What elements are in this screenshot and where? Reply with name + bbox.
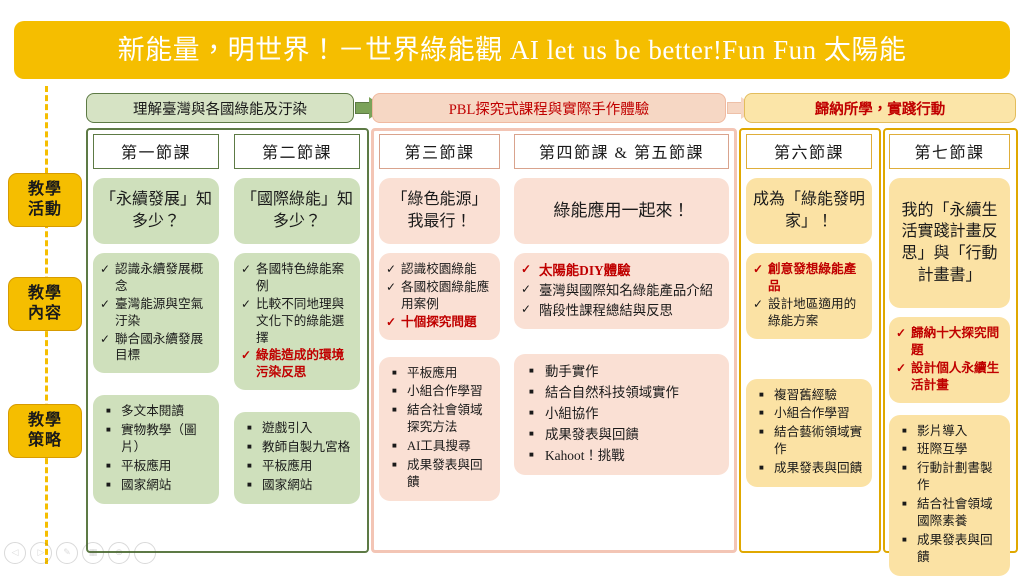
lesson-header-6: 第六節課 xyxy=(746,134,872,169)
content-item-label: 認識永續發展概念 xyxy=(115,262,203,293)
check-icon: ✓ xyxy=(521,281,531,298)
strategy-item: ■多文本閱讀 xyxy=(106,403,212,420)
strategy-item-label: 平板應用 xyxy=(407,366,457,380)
lesson-column-4-5: 第四節課 & 第五節課 綠能應用一起來！ ✓太陽能DIY體驗✓臺灣與國際知名綠能… xyxy=(514,134,729,475)
strategy-item: ■平板應用 xyxy=(247,458,353,475)
strategy-item-label: 行動計劃書製作 xyxy=(917,461,993,492)
strategy-list-6: ■複習舊經驗■小組合作學習■結合藝術領域實作■成果發表與回饋 xyxy=(753,387,865,477)
square-bullet-icon: ■ xyxy=(902,499,907,510)
content-item: ✓認識校園綠能 xyxy=(386,261,493,278)
content-card-4-5: ✓太陽能DIY體驗✓臺灣與國際知名綠能產品介紹✓階段性課程總結與反思 xyxy=(514,253,729,329)
square-bullet-icon: ■ xyxy=(529,449,534,460)
content-list-3: ✓認識校園綠能✓各國校園綠能應用案例✓十個探究問題 xyxy=(386,261,493,331)
strategy-item-label: 平板應用 xyxy=(262,459,312,473)
content-item-label: 臺灣與國際知名綠能產品介紹 xyxy=(539,283,713,298)
row-label-line-1: 教學 xyxy=(9,180,81,200)
page-title: 新能量，明世界！－世界綠能觀 AI let us be better!Fun F… xyxy=(118,37,907,64)
strategy-item: ■小組合作學習 xyxy=(759,405,865,422)
check-icon: ✓ xyxy=(100,331,110,347)
check-icon: ✓ xyxy=(521,301,531,318)
content-item: ✓綠能造成的環境污染反思 xyxy=(241,347,353,381)
content-item: ✓各國校園綠能應用案例 xyxy=(386,279,493,313)
strategy-card-6: ■複習舊經驗■小組合作學習■結合藝術領域實作■成果發表與回饋 xyxy=(746,379,872,487)
strategy-list-3: ■平板應用■小組合作學習■結合社會領域探究方法■AI工具搜尋■成果發表與回饋 xyxy=(386,365,493,491)
check-icon: ✓ xyxy=(100,296,110,312)
content-item-label: 創意發想綠能產品 xyxy=(768,262,856,293)
square-bullet-icon: ■ xyxy=(529,407,534,418)
strategy-item: ■Kahoot！挑戰 xyxy=(527,446,722,465)
strategy-item: ■結合社會領域國際素養 xyxy=(902,496,1003,530)
content-list-6: ✓創意發想綠能產品✓設計地區適用的綠能方案 xyxy=(753,261,865,330)
strategy-item-label: 國家網站 xyxy=(262,478,312,492)
strategy-item-label: 班際互學 xyxy=(917,442,967,456)
activity-card-1: 「永續發展」知多少？ xyxy=(93,178,219,244)
square-bullet-icon: ■ xyxy=(902,444,907,455)
strategy-item: ■小組合作學習 xyxy=(392,383,493,400)
strategy-item: ■班際互學 xyxy=(902,441,1003,458)
square-bullet-icon: ■ xyxy=(392,368,397,379)
strategy-item-label: 結合社會領域探究方法 xyxy=(407,403,483,434)
activity-card-2: 「國際綠能」知多少？ xyxy=(234,178,360,244)
strategy-item-label: 小組合作學習 xyxy=(774,406,850,420)
content-item-label: 設計地區適用的綠能方案 xyxy=(768,297,856,328)
strategy-item: ■影片導入 xyxy=(902,423,1003,440)
lesson-header-1: 第一節課 xyxy=(93,134,219,169)
square-bullet-icon: ■ xyxy=(759,463,764,474)
strategy-item: ■實物教學（圖片） xyxy=(106,422,212,456)
lesson-header-7: 第七節課 xyxy=(889,134,1010,169)
square-bullet-icon: ■ xyxy=(392,386,397,397)
lesson-column-2: 第二節課 「國際綠能」知多少？ ✓各國特色綠能案例✓比較不同地理與文化下的綠能選… xyxy=(234,134,360,504)
strategy-item-label: 實物教學（圖片） xyxy=(121,423,197,454)
content-item-label: 綠能造成的環境污染反思 xyxy=(256,348,344,379)
strategy-item: ■結合社會領域探究方法 xyxy=(392,402,493,436)
phase-band-action: 歸納所學，實踐行動 xyxy=(744,93,1016,123)
page-title-banner: 新能量，明世界！－世界綠能觀 AI let us be better!Fun F… xyxy=(14,21,1010,79)
strategy-item: ■國家網站 xyxy=(106,477,212,494)
square-bullet-icon: ■ xyxy=(247,480,252,491)
square-bullet-icon: ■ xyxy=(759,427,764,438)
activity-card-7: 我的「永續生活實踐計畫反思」與「行動計畫書」 xyxy=(889,178,1010,308)
check-icon: ✓ xyxy=(241,347,251,363)
strategy-item-label: 成果發表與回饋 xyxy=(774,461,862,475)
check-icon: ✓ xyxy=(100,261,110,277)
content-item-label: 階段性課程總結與反思 xyxy=(539,303,673,318)
check-icon: ✓ xyxy=(896,360,906,376)
strategy-item: ■國家網站 xyxy=(247,477,353,494)
square-bullet-icon: ■ xyxy=(392,441,397,452)
square-bullet-icon: ■ xyxy=(529,386,534,397)
square-bullet-icon: ■ xyxy=(392,460,397,471)
check-icon: ✓ xyxy=(521,261,531,278)
content-list-7: ✓歸納十大探究問題✓設計個人永續生活計畫 xyxy=(896,325,1003,394)
strategy-item-label: 成果發表與回饋 xyxy=(545,427,639,442)
previous-slide-icon[interactable]: ◁ xyxy=(4,542,26,564)
content-item: ✓歸納十大探究問題 xyxy=(896,325,1003,359)
row-label-line-1: 教學 xyxy=(9,411,81,431)
slideshow-player-bar[interactable]: ◁ ▷ ✎ ▦ ⊕ ⋯ xyxy=(4,542,156,564)
content-item: ✓認識永續發展概念 xyxy=(100,261,212,295)
lesson-header-4-5: 第四節課 & 第五節課 xyxy=(514,134,729,169)
strategy-item: ■成果發表與回饋 xyxy=(902,532,1003,566)
square-bullet-icon: ■ xyxy=(247,461,252,472)
strategy-item-label: 影片導入 xyxy=(917,424,967,438)
content-list-2: ✓各國特色綠能案例✓比較不同地理與文化下的綠能選擇✓綠能造成的環境污染反思 xyxy=(241,261,353,381)
strategy-card-2: ■遊戲引入■教師自製九宮格■平板應用■國家網站 xyxy=(234,412,360,504)
strategy-item-label: 成果發表與回饋 xyxy=(917,533,993,564)
strategy-item-label: 平板應用 xyxy=(121,459,171,473)
content-item: ✓設計個人永續生活計畫 xyxy=(896,360,1003,394)
square-bullet-icon: ■ xyxy=(106,425,111,436)
content-list-4-5: ✓太陽能DIY體驗✓臺灣與國際知名綠能產品介紹✓階段性課程總結與反思 xyxy=(521,261,722,320)
content-item: ✓太陽能DIY體驗 xyxy=(521,261,722,280)
square-bullet-icon: ■ xyxy=(902,463,907,474)
strategy-item: ■平板應用 xyxy=(392,365,493,382)
lesson-column-1: 第一節課 「永續發展」知多少？ ✓認識永續發展概念✓臺灣能源與空氣汙染✓聯合國永… xyxy=(93,134,219,504)
content-card-1: ✓認識永續發展概念✓臺灣能源與空氣汙染✓聯合國永續發展目標 xyxy=(93,253,219,373)
strategy-item-label: 小組合作學習 xyxy=(407,384,483,398)
strategy-item-label: 結合藝術領域實作 xyxy=(774,425,862,456)
row-label-teaching-strategy: 教學 策略 xyxy=(8,404,82,458)
zoom-icon[interactable]: ⊕ xyxy=(108,542,130,564)
content-item: ✓階段性課程總結與反思 xyxy=(521,301,722,320)
content-item-label: 臺灣能源與空氣汙染 xyxy=(115,297,203,328)
content-item-label: 認識校園綠能 xyxy=(401,262,477,276)
row-label-line-1: 教學 xyxy=(9,284,81,304)
strategy-item: ■成果發表與回饋 xyxy=(392,457,493,491)
strategy-card-1: ■多文本閱讀■實物教學（圖片）■平板應用■國家網站 xyxy=(93,395,219,503)
lesson-column-6: 第六節課 成為「綠能發明家」！ ✓創意發想綠能產品✓設計地區適用的綠能方案 ■複… xyxy=(746,134,872,487)
row-label-line-2: 內容 xyxy=(9,304,81,324)
strategy-item-label: AI工具搜尋 xyxy=(407,439,471,453)
content-item-label: 十個探究問題 xyxy=(401,315,477,329)
square-bullet-icon: ■ xyxy=(759,408,764,419)
square-bullet-icon: ■ xyxy=(247,423,252,434)
square-bullet-icon: ■ xyxy=(247,442,252,453)
activity-card-6: 成為「綠能發明家」！ xyxy=(746,178,872,244)
content-card-7: ✓歸納十大探究問題✓設計個人永續生活計畫 xyxy=(889,317,1010,403)
strategy-list-2: ■遊戲引入■教師自製九宮格■平板應用■國家網站 xyxy=(241,420,353,494)
content-item: ✓創意發想綠能產品 xyxy=(753,261,865,295)
lesson-column-3: 第三節課 「綠色能源」我最行！ ✓認識校園綠能✓各國校園綠能應用案例✓十個探究問… xyxy=(379,134,500,501)
content-item: ✓臺灣與國際知名綠能產品介紹 xyxy=(521,281,722,300)
strategy-item: ■結合藝術領域實作 xyxy=(759,424,865,458)
lesson-header-2: 第二節課 xyxy=(234,134,360,169)
lesson-column-7: 第七節課 我的「永續生活實踐計畫反思」與「行動計畫書」 ✓歸納十大探究問題✓設計… xyxy=(889,134,1010,576)
content-item-label: 各國校園綠能應用案例 xyxy=(401,280,489,311)
content-item: ✓臺灣能源與空氣汙染 xyxy=(100,296,212,330)
content-item: ✓比較不同地理與文化下的綠能選擇 xyxy=(241,296,353,347)
row-label-teaching-activity: 教學 活動 xyxy=(8,173,82,227)
strategy-item-label: 教師自製九宮格 xyxy=(262,440,350,454)
strategy-item-label: 遊戲引入 xyxy=(262,421,312,435)
strategy-item-label: 多文本閱讀 xyxy=(121,404,184,418)
content-item-label: 設計個人永續生活計畫 xyxy=(911,361,999,392)
square-bullet-icon: ■ xyxy=(529,428,534,439)
strategy-list-7: ■影片導入■班際互學■行動計劃書製作■結合社會領域國際素養■成果發表與回饋 xyxy=(896,423,1003,566)
strategy-item: ■教師自製九宮格 xyxy=(247,439,353,456)
strategy-item: ■AI工具搜尋 xyxy=(392,438,493,455)
content-card-2: ✓各國特色綠能案例✓比較不同地理與文化下的綠能選擇✓綠能造成的環境污染反思 xyxy=(234,253,360,390)
strategy-item: ■遊戲引入 xyxy=(247,420,353,437)
slide-grid-icon[interactable]: ▦ xyxy=(82,542,104,564)
strategy-item-label: 複習舊經驗 xyxy=(774,388,837,402)
check-icon: ✓ xyxy=(753,296,763,312)
strategy-item: ■成果發表與回饋 xyxy=(527,425,722,444)
more-options-icon[interactable]: ⋯ xyxy=(134,542,156,564)
row-label-teaching-content: 教學 內容 xyxy=(8,277,82,331)
lesson-header-3: 第三節課 xyxy=(379,134,500,169)
check-icon: ✓ xyxy=(241,261,251,277)
strategy-item-label: 小組協作 xyxy=(545,406,599,421)
check-icon: ✓ xyxy=(753,261,763,277)
phase-band-row: 理解臺灣與各國綠能及汙染 PBL探究式課程與實際手作體驗 歸納所學，實踐行動 xyxy=(86,93,1016,123)
strategy-card-7: ■影片導入■班際互學■行動計劃書製作■結合社會領域國際素養■成果發表與回饋 xyxy=(889,415,1010,576)
strategy-card-3: ■平板應用■小組合作學習■結合社會領域探究方法■AI工具搜尋■成果發表與回饋 xyxy=(379,357,500,501)
strategy-item: ■平板應用 xyxy=(106,458,212,475)
activity-card-3: 「綠色能源」我最行！ xyxy=(379,178,500,244)
check-icon: ✓ xyxy=(896,325,906,341)
strategy-item: ■結合自然科技領域實作 xyxy=(527,383,722,402)
strategy-item: ■複習舊經驗 xyxy=(759,387,865,404)
strategy-item: ■小組協作 xyxy=(527,404,722,423)
content-item: ✓各國特色綠能案例 xyxy=(241,261,353,295)
square-bullet-icon: ■ xyxy=(529,365,534,376)
content-list-1: ✓認識永續發展概念✓臺灣能源與空氣汙染✓聯合國永續發展目標 xyxy=(100,261,212,364)
content-item: ✓設計地區適用的綠能方案 xyxy=(753,296,865,330)
strategy-item-label: Kahoot！挑戰 xyxy=(545,448,625,463)
square-bullet-icon: ■ xyxy=(106,480,111,491)
phase-band-pbl: PBL探究式課程與實際手作體驗 xyxy=(372,93,726,123)
content-item: ✓十個探究問題 xyxy=(386,314,493,331)
strategy-list-1: ■多文本閱讀■實物教學（圖片）■平板應用■國家網站 xyxy=(100,403,212,493)
square-bullet-icon: ■ xyxy=(902,535,907,546)
square-bullet-icon: ■ xyxy=(392,405,397,416)
check-icon: ✓ xyxy=(386,261,396,277)
check-icon: ✓ xyxy=(386,279,396,295)
square-bullet-icon: ■ xyxy=(902,426,907,437)
strategy-item: ■成果發表與回饋 xyxy=(759,460,865,477)
square-bullet-icon: ■ xyxy=(106,461,111,472)
strategy-item-label: 動手實作 xyxy=(545,364,599,379)
phase-band-understand: 理解臺灣與各國綠能及汙染 xyxy=(86,93,354,123)
square-bullet-icon: ■ xyxy=(759,390,764,401)
content-item: ✓聯合國永續發展目標 xyxy=(100,331,212,365)
content-card-6: ✓創意發想綠能產品✓設計地區適用的綠能方案 xyxy=(746,253,872,339)
content-item-label: 比較不同地理與文化下的綠能選擇 xyxy=(256,297,344,345)
strategy-item: ■動手實作 xyxy=(527,362,722,381)
strategy-list-4-5: ■動手實作■結合自然科技領域實作■小組協作■成果發表與回饋■Kahoot！挑戰 xyxy=(521,362,722,465)
row-label-line-2: 策略 xyxy=(9,431,81,451)
strategy-item: ■行動計劃書製作 xyxy=(902,460,1003,494)
row-label-line-2: 活動 xyxy=(9,200,81,220)
strategy-item-label: 結合自然科技領域實作 xyxy=(545,385,679,400)
pen-icon[interactable]: ✎ xyxy=(56,542,78,564)
content-item-label: 聯合國永續發展目標 xyxy=(115,332,203,363)
check-icon: ✓ xyxy=(386,314,396,330)
activity-card-4-5: 綠能應用一起來！ xyxy=(514,178,729,244)
content-card-3: ✓認識校園綠能✓各國校園綠能應用案例✓十個探究問題 xyxy=(379,253,500,340)
check-icon: ✓ xyxy=(241,296,251,312)
strategy-item-label: 成果發表與回饋 xyxy=(407,458,483,489)
next-slide-icon[interactable]: ▷ xyxy=(30,542,52,564)
strategy-card-4-5: ■動手實作■結合自然科技領域實作■小組協作■成果發表與回饋■Kahoot！挑戰 xyxy=(514,354,729,475)
content-item-label: 太陽能DIY體驗 xyxy=(539,263,631,278)
square-bullet-icon: ■ xyxy=(106,406,111,417)
strategy-item-label: 國家網站 xyxy=(121,478,171,492)
content-item-label: 歸納十大探究問題 xyxy=(911,326,999,357)
content-item-label: 各國特色綠能案例 xyxy=(256,262,344,293)
strategy-item-label: 結合社會領域國際素養 xyxy=(917,497,993,528)
